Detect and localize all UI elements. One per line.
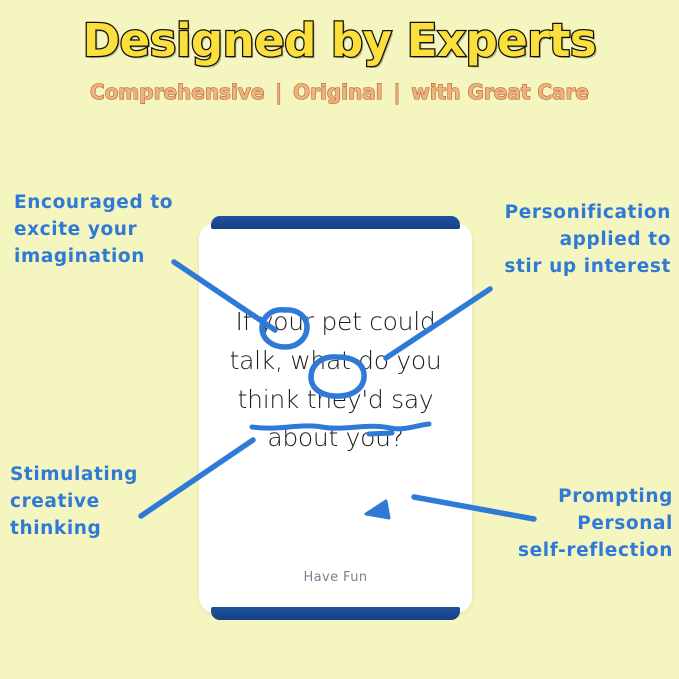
- subtitle-item-original: Original: [291, 80, 384, 104]
- annotation-top-right-line-3: stir up interest: [504, 254, 671, 281]
- card-question-text: If your pet could talk, what do you thin…: [213, 303, 458, 458]
- subtitle-item-great-care: with Great Care: [409, 80, 591, 104]
- poster-root: Designed by Experts Comprehensive | Orig…: [0, 0, 679, 679]
- annotation-top-right-line-1: Personification: [504, 200, 671, 227]
- subtitle-separator-2: |: [385, 80, 410, 104]
- annotation-bottom-right-line-3: self-reflection: [518, 538, 673, 565]
- question-card[interactable]: If your pet could talk, what do you thin…: [199, 223, 472, 613]
- card-top-bar: [211, 216, 460, 229]
- annotation-bottom-left-line-2: creative: [10, 489, 138, 516]
- annotation-bottom-left: Stimulating creative thinking: [10, 462, 138, 542]
- annotation-bottom-right-line-1: Prompting: [518, 484, 673, 511]
- annotation-top-left-line-2: excite your: [14, 217, 173, 244]
- annotation-top-left-line-1: Encouraged to: [14, 190, 173, 217]
- page-title: Designed by Experts: [0, 14, 679, 67]
- card-footer-label: Have Fun: [199, 570, 472, 585]
- annotation-bottom-right: Prompting Personal self-reflection: [518, 484, 673, 564]
- annotation-top-right: Personification applied to stir up inter…: [504, 200, 671, 280]
- annotation-top-left: Encouraged to excite your imagination: [14, 190, 173, 270]
- annotation-bottom-left-line-1: Stimulating: [10, 462, 138, 489]
- subtitle-row: Comprehensive | Original | with Great Ca…: [0, 80, 679, 104]
- annotation-bottom-left-line-3: thinking: [10, 516, 138, 543]
- annotation-top-right-line-2: applied to: [504, 227, 671, 254]
- annotation-top-left-line-3: imagination: [14, 244, 173, 271]
- subtitle-item-comprehensive: Comprehensive: [88, 80, 266, 104]
- card-bottom-bar: [211, 607, 460, 620]
- subtitle-separator-1: |: [266, 80, 291, 104]
- annotation-bottom-right-line-2: Personal: [518, 511, 673, 538]
